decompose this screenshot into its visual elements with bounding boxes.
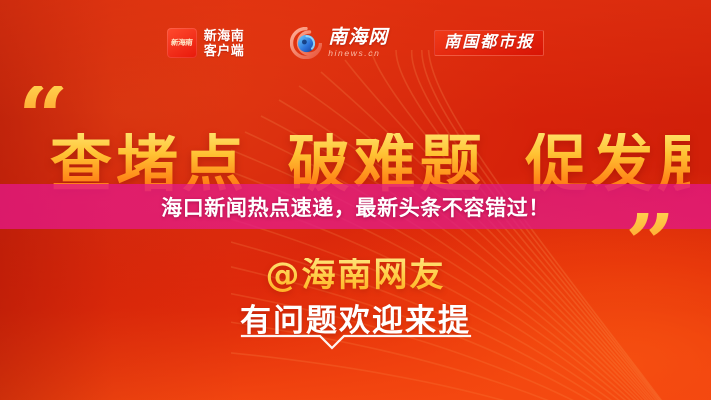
hinews-cn-text: 南海网 (328, 28, 388, 47)
partner-logo-bar: 新海南 新海南 客户端 (0, 27, 711, 59)
speech-bubble-rule (0, 334, 711, 352)
xinhainan-line-2: 客户端 (204, 43, 245, 58)
cta-block: @海南网友 有问题欢迎来提 (0, 258, 711, 337)
caption-text: 海口新闻热点速递，最新头条不容错过！ (161, 192, 550, 222)
promo-banner-image: 新海南 新海南 客户端 (0, 0, 711, 400)
xinhainan-wordmark: 新海南 客户端 (204, 28, 245, 58)
hinews-wordmark: 南海网 hinews.cn (328, 28, 388, 58)
xinhainan-mark-text: 新海南 (171, 39, 193, 47)
nanguo-plate: 南国都市报 (434, 30, 544, 56)
hinews-swirl-icon (290, 27, 322, 59)
logo-hinews: 南海网 hinews.cn (290, 27, 388, 59)
xinhainan-line-1: 新海南 (204, 28, 245, 43)
xinhainan-mark-icon: 新海南 (167, 28, 197, 58)
logo-nanguo-dushibao: 南国都市报 (434, 30, 544, 56)
caption-band: 海口新闻热点速递，最新头条不容错过！ (0, 184, 711, 229)
cta-sub-line: 有问题欢迎来提 (0, 306, 711, 337)
hinews-url-text: hinews.cn (328, 49, 388, 58)
cta-mention-line: @海南网友 (0, 258, 711, 292)
logo-xinhainan-client: 新海南 新海南 客户端 (167, 28, 245, 58)
nanguo-wordmark: 南国都市报 (444, 34, 534, 51)
